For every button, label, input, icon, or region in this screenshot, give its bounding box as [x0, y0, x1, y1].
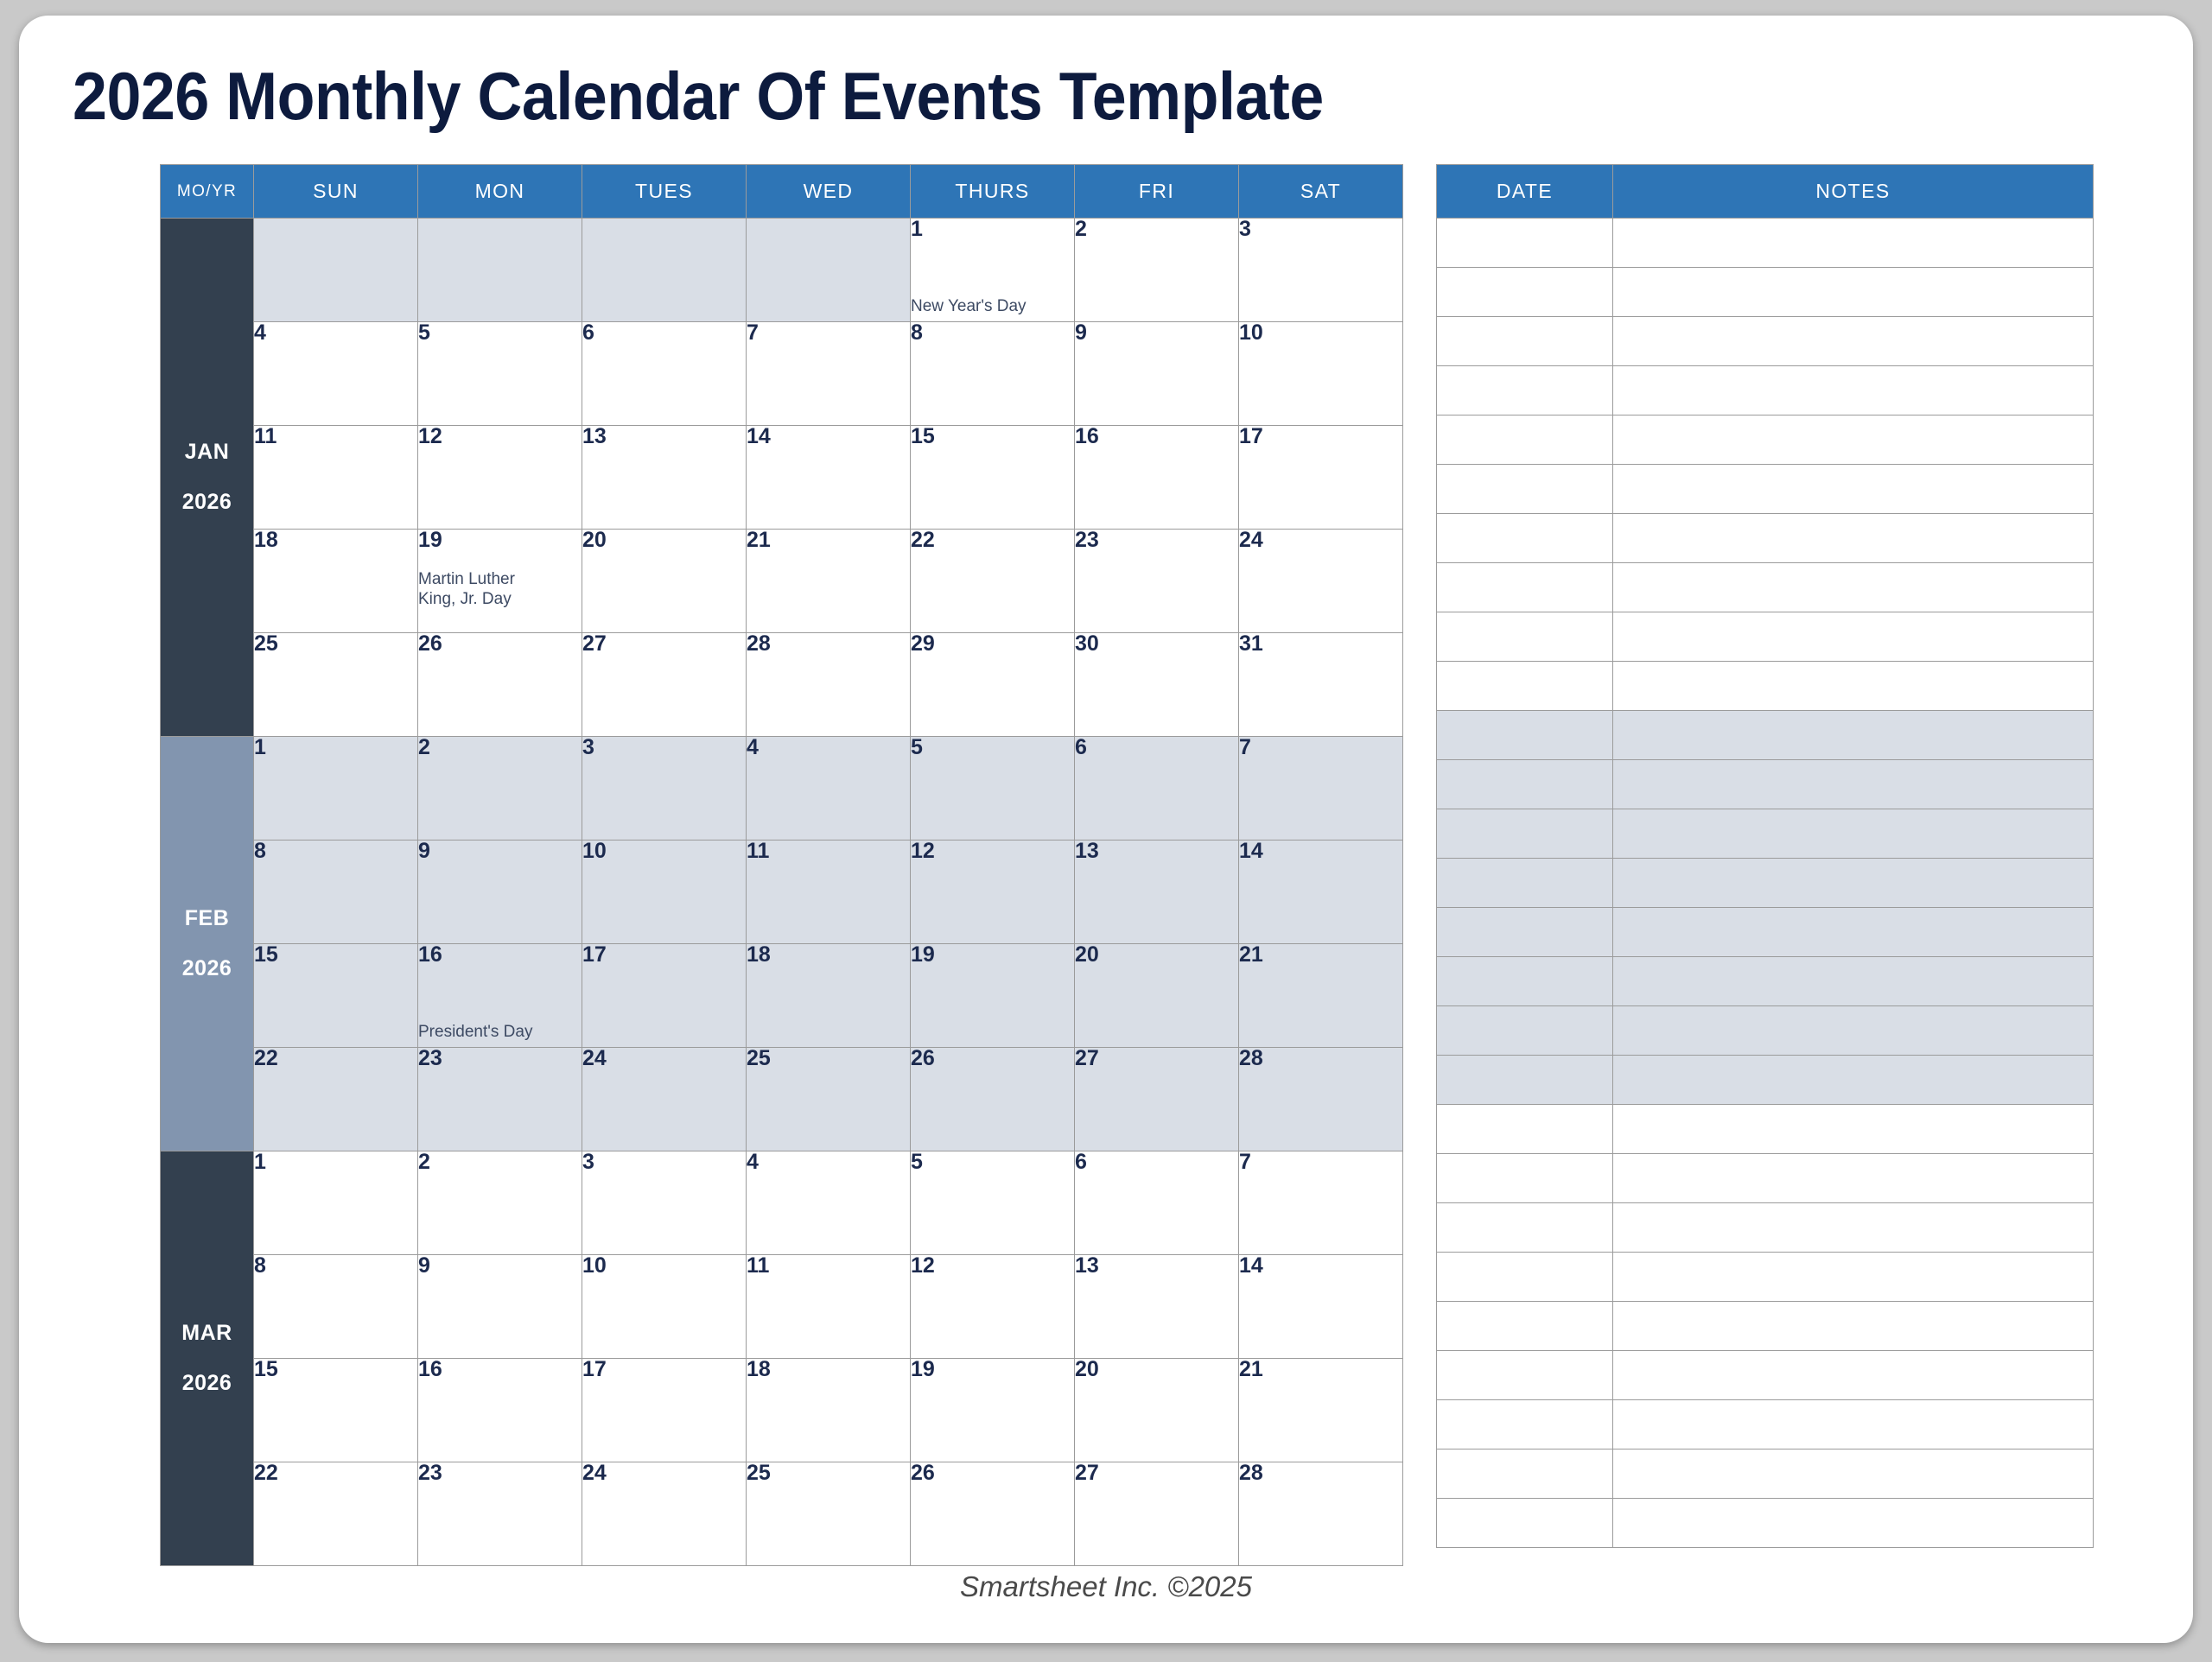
day-cell-content: 1 [254, 1151, 417, 1254]
calendar-day-cell[interactable]: 26 [418, 633, 582, 737]
day-number: 19 [911, 1359, 1074, 1380]
calendar-day-cell[interactable]: 26 [911, 1048, 1075, 1151]
notes-date-cell[interactable] [1437, 957, 1613, 1006]
calendar-day-cell[interactable]: 11 [747, 841, 911, 944]
day-number: 10 [582, 1255, 746, 1277]
calendar-day-cell[interactable]: 26 [911, 1462, 1075, 1566]
day-cell-content: 1New Year's Day [911, 219, 1074, 321]
calendar-day-cell[interactable]: 31 [1239, 633, 1403, 737]
notes-row [1437, 1351, 2094, 1400]
notes-row [1437, 1006, 2094, 1056]
column-header-wed: WED [747, 165, 911, 219]
notes-date-cell[interactable] [1437, 1006, 1613, 1056]
calendar-day-cell[interactable]: 17 [582, 1359, 747, 1462]
day-cell-content: 13 [1075, 841, 1238, 943]
calendar-cell-empty[interactable] [254, 219, 418, 322]
calendar-day-cell[interactable]: 11 [254, 426, 418, 530]
notes-date-cell[interactable] [1437, 1154, 1613, 1203]
notes-date-cell[interactable] [1437, 1105, 1613, 1154]
notes-date-cell[interactable] [1437, 760, 1613, 809]
notes-date-cell[interactable] [1437, 908, 1613, 957]
calendar-day-cell[interactable]: 7 [1239, 1151, 1403, 1255]
calendar-day-cell[interactable]: 5 [418, 322, 582, 426]
day-cell-content [418, 219, 582, 321]
calendar-day-cell[interactable]: 13 [1075, 1255, 1239, 1359]
day-cell-content: 6 [1075, 1151, 1238, 1254]
notes-row [1437, 1203, 2094, 1253]
day-cell-content: 14 [747, 426, 910, 529]
calendar-day-cell[interactable]: 8 [911, 322, 1075, 426]
notes-date-cell[interactable] [1437, 1203, 1613, 1253]
calendar-day-cell[interactable]: 2 [418, 1151, 582, 1255]
day-number: 24 [582, 1462, 746, 1484]
notes-date-cell[interactable] [1437, 1302, 1613, 1351]
calendar-day-cell[interactable]: 1 [254, 737, 418, 841]
calendar-day-cell[interactable]: 22 [911, 530, 1075, 633]
notes-note-cell[interactable] [1613, 317, 2094, 366]
day-cell-content: 16President's Day [418, 944, 582, 1047]
day-cell-content: 21 [747, 530, 910, 632]
calendar-week-row: 1516President's Day1718192021 [161, 944, 1403, 1048]
calendar-day-cell[interactable]: 27 [1075, 1462, 1239, 1566]
notes-note-cell[interactable] [1613, 1253, 2094, 1302]
calendar-day-cell[interactable]: 30 [1075, 633, 1239, 737]
day-cell-content: 21 [1239, 944, 1402, 1047]
notes-note-cell[interactable] [1613, 219, 2094, 268]
day-number: 7 [1239, 1151, 1402, 1173]
day-number: 24 [582, 1048, 746, 1069]
calendar-day-cell[interactable]: 16 [418, 1359, 582, 1462]
notes-date-cell[interactable] [1437, 1253, 1613, 1302]
day-cell-content: 27 [582, 633, 746, 736]
notes-date-cell[interactable] [1437, 612, 1613, 662]
calendar-day-cell[interactable]: 21 [1239, 944, 1403, 1048]
day-number: 25 [747, 1048, 910, 1069]
notes-date-cell[interactable] [1437, 711, 1613, 760]
calendar-day-cell[interactable]: 1 [254, 1151, 418, 1255]
notes-date-cell[interactable] [1437, 465, 1613, 514]
day-number: 5 [911, 1151, 1074, 1173]
calendar-day-cell[interactable]: 24 [1239, 530, 1403, 633]
day-number: 22 [911, 530, 1074, 551]
day-number: 6 [582, 322, 746, 344]
calendar-day-cell[interactable]: 19 [911, 944, 1075, 1048]
month-year: 2026 [161, 1359, 253, 1409]
calendar-day-cell[interactable]: 21 [1239, 1359, 1403, 1462]
day-cell-content: 27 [1075, 1462, 1238, 1565]
column-header-sat: SAT [1239, 165, 1403, 219]
calendar-day-cell[interactable]: 4 [254, 322, 418, 426]
notes-row [1437, 465, 2094, 514]
day-cell-content: 29 [911, 633, 1074, 736]
day-cell-content: 28 [1239, 1048, 1402, 1151]
notes-note-cell[interactable] [1613, 612, 2094, 662]
day-number: 5 [911, 737, 1074, 758]
notes-note-cell[interactable] [1613, 760, 2094, 809]
day-cell-content: 27 [1075, 1048, 1238, 1151]
calendar-day-cell[interactable]: 15 [911, 426, 1075, 530]
notes-note-cell[interactable] [1613, 711, 2094, 760]
day-cell-content: 5 [418, 322, 582, 425]
calendar-header-row: MO/YR SUN MON TUES WED THURS FRI SAT [161, 165, 1403, 219]
notes-date-cell[interactable] [1437, 317, 1613, 366]
calendar-day-cell[interactable]: 4 [747, 737, 911, 841]
calendar-day-cell[interactable]: 19 [911, 1359, 1075, 1462]
calendar-day-cell[interactable]: 17 [1239, 426, 1403, 530]
notes-note-cell[interactable] [1613, 1302, 2094, 1351]
notes-date-cell[interactable] [1437, 1400, 1613, 1449]
month-year: 2026 [161, 478, 253, 528]
day-number: 20 [582, 530, 746, 551]
day-number: 26 [911, 1462, 1074, 1484]
calendar-day-cell[interactable]: 25 [747, 1462, 911, 1566]
notes-note-cell[interactable] [1613, 809, 2094, 859]
day-cell-content: 10 [582, 841, 746, 943]
calendar-cell-empty[interactable] [747, 219, 911, 322]
calendar-day-cell[interactable]: 27 [582, 633, 747, 737]
calendar-day-cell[interactable]: 27 [1075, 1048, 1239, 1151]
day-cell-content: 15 [911, 426, 1074, 529]
month-label-mar: MAR2026 [161, 1151, 254, 1566]
calendar-day-cell[interactable]: 28 [747, 633, 911, 737]
day-cell-content: 16 [418, 1359, 582, 1462]
day-cell-content: 24 [582, 1462, 746, 1565]
notes-date-cell[interactable] [1437, 809, 1613, 859]
day-cell-content: 1 [254, 737, 417, 840]
notes-row [1437, 1449, 2094, 1499]
calendar-day-cell[interactable]: 28 [1239, 1048, 1403, 1151]
day-number: 27 [582, 633, 746, 655]
calendar-day-cell[interactable]: 3 [582, 1151, 747, 1255]
notes-date-cell[interactable] [1437, 219, 1613, 268]
day-cell-content: 18 [254, 530, 417, 632]
day-number: 2 [418, 737, 582, 758]
day-cell-content: 10 [582, 1255, 746, 1358]
notes-row [1437, 662, 2094, 711]
notes-row [1437, 809, 2094, 859]
day-cell-content [747, 219, 910, 321]
notes-note-cell[interactable] [1613, 366, 2094, 415]
calendar-day-cell[interactable]: 3 [582, 737, 747, 841]
day-number: 21 [747, 530, 910, 551]
day-cell-content: 19Martin LutherKing, Jr. Day [418, 530, 582, 632]
day-number: 9 [418, 841, 582, 862]
day-number: 1 [254, 1151, 417, 1173]
day-number: 13 [582, 426, 746, 447]
calendar-day-cell[interactable]: 10 [582, 1255, 747, 1359]
day-number: 29 [911, 633, 1074, 655]
notes-note-cell[interactable] [1613, 1154, 2094, 1203]
day-cell-content: 11 [747, 1255, 910, 1358]
day-cell-content: 26 [418, 633, 582, 736]
column-header-tues: TUES [582, 165, 747, 219]
calendar-day-cell[interactable]: 6 [582, 322, 747, 426]
day-number: 28 [1239, 1462, 1402, 1484]
day-number: 24 [1239, 530, 1402, 551]
day-number: 18 [747, 1359, 910, 1380]
day-cell-content: 8 [254, 1255, 417, 1358]
notes-note-cell[interactable] [1613, 1449, 2094, 1499]
day-number: 11 [254, 426, 417, 447]
day-cell-content: 7 [1239, 737, 1402, 840]
notes-date-cell[interactable] [1437, 415, 1613, 465]
day-number: 23 [418, 1462, 582, 1484]
calendar-day-cell[interactable]: 2 [1075, 219, 1239, 322]
notes-date-cell[interactable] [1437, 366, 1613, 415]
calendar-day-cell[interactable]: 13 [582, 426, 747, 530]
day-number: 6 [1075, 737, 1238, 758]
day-cell-content: 19 [911, 944, 1074, 1047]
calendar-day-cell[interactable]: 10 [582, 841, 747, 944]
calendar-week-row: 891011121314 [161, 1255, 1403, 1359]
day-cell-content: 19 [911, 1359, 1074, 1462]
notes-note-cell[interactable] [1613, 1006, 2094, 1056]
calendar-day-cell[interactable]: 11 [747, 1255, 911, 1359]
calendar-week-row: 1819Martin LutherKing, Jr. Day2021222324 [161, 530, 1403, 633]
notes-note-cell[interactable] [1613, 465, 2094, 514]
day-cell-content: 23 [418, 1462, 582, 1565]
calendar-day-cell[interactable]: 23 [418, 1462, 582, 1566]
day-number: 19 [418, 530, 582, 551]
day-cell-content [254, 219, 417, 321]
calendar-day-cell[interactable]: 3 [1239, 219, 1403, 322]
notes-date-cell[interactable] [1437, 1449, 1613, 1499]
day-cell-content: 8 [911, 322, 1074, 425]
calendar-day-cell[interactable]: 22 [254, 1462, 418, 1566]
notes-body [1437, 219, 2094, 1548]
day-cell-content: 13 [1075, 1255, 1238, 1358]
day-number: 28 [1239, 1048, 1402, 1069]
day-number: 31 [1239, 633, 1402, 655]
calendar-day-cell[interactable]: 12 [911, 841, 1075, 944]
calendar-day-cell[interactable]: 15 [254, 944, 418, 1048]
calendar-day-cell[interactable]: 14 [1239, 841, 1403, 944]
day-number: 16 [418, 1359, 582, 1380]
calendar-day-cell[interactable]: 23 [418, 1048, 582, 1151]
month-name: FEB [161, 894, 253, 944]
notes-row [1437, 415, 2094, 465]
day-number: 7 [747, 322, 910, 344]
day-cell-content: 15 [254, 944, 417, 1047]
notes-row [1437, 1302, 2094, 1351]
calendar-day-cell[interactable]: 25 [254, 633, 418, 737]
calendar-day-cell[interactable]: 5 [911, 737, 1075, 841]
day-number: 26 [911, 1048, 1074, 1069]
calendar-day-cell[interactable]: 20 [582, 530, 747, 633]
calendar-day-cell[interactable]: 28 [1239, 1462, 1403, 1566]
day-number: 3 [582, 1151, 746, 1173]
day-number: 19 [911, 944, 1074, 966]
calendar-week-row: 45678910 [161, 322, 1403, 426]
calendar-day-cell[interactable]: 16President's Day [418, 944, 582, 1048]
calendar-day-cell[interactable]: 4 [747, 1151, 911, 1255]
day-number: 23 [418, 1048, 582, 1069]
day-cell-content: 9 [418, 841, 582, 943]
column-header-mo-yr: MO/YR [161, 165, 254, 219]
day-cell-content [582, 219, 746, 321]
notes-panel: DATE NOTES [1436, 164, 2094, 1548]
notes-note-cell[interactable] [1613, 662, 2094, 711]
column-header-mon: MON [418, 165, 582, 219]
notes-note-cell[interactable] [1613, 1351, 2094, 1400]
day-cell-content: 16 [1075, 426, 1238, 529]
notes-date-cell[interactable] [1437, 859, 1613, 908]
calendar-day-cell[interactable]: 9 [418, 1255, 582, 1359]
calendar-day-cell[interactable]: 18 [747, 944, 911, 1048]
calendar-panel: MO/YR SUN MON TUES WED THURS FRI SAT JAN… [160, 164, 1403, 1566]
calendar-week-row: JAN20261New Year's Day23 [161, 219, 1403, 322]
day-cell-content: 7 [1239, 1151, 1402, 1254]
notes-date-cell[interactable] [1437, 1056, 1613, 1105]
day-number: 3 [582, 737, 746, 758]
calendar-day-cell[interactable]: 20 [1075, 1359, 1239, 1462]
notes-date-cell[interactable] [1437, 268, 1613, 317]
day-cell-content: 7 [747, 322, 910, 425]
day-cell-content: 11 [254, 426, 417, 529]
day-number: 2 [1075, 219, 1238, 240]
day-number: 12 [911, 1255, 1074, 1277]
calendar-day-cell[interactable]: 21 [747, 530, 911, 633]
notes-row [1437, 563, 2094, 612]
notes-note-cell[interactable] [1613, 1056, 2094, 1105]
notes-row [1437, 219, 2094, 268]
day-cell-content: 28 [747, 633, 910, 736]
notes-row [1437, 1400, 2094, 1449]
calendar-day-cell[interactable]: 13 [1075, 841, 1239, 944]
day-cell-content: 4 [254, 322, 417, 425]
day-cell-content: 2 [1075, 219, 1238, 321]
column-header-fri: FRI [1075, 165, 1239, 219]
calendar-day-cell[interactable]: 7 [747, 322, 911, 426]
notes-note-cell[interactable] [1613, 908, 2094, 957]
day-number: 22 [254, 1048, 417, 1069]
notes-date-cell[interactable] [1437, 563, 1613, 612]
notes-note-cell[interactable] [1613, 563, 2094, 612]
calendar-day-cell[interactable]: 24 [582, 1048, 747, 1151]
template-page: 2026 Monthly Calendar Of Events Template… [19, 16, 2193, 1643]
calendar-day-cell[interactable]: 17 [582, 944, 747, 1048]
calendar-day-cell[interactable]: 6 [1075, 737, 1239, 841]
notes-date-cell[interactable] [1437, 1499, 1613, 1548]
notes-date-cell[interactable] [1437, 514, 1613, 563]
notes-note-cell[interactable] [1613, 268, 2094, 317]
notes-note-cell[interactable] [1613, 514, 2094, 563]
calendar-body: JAN20261New Year's Day234567891011121314… [161, 219, 1403, 1566]
calendar-day-cell[interactable]: 10 [1239, 322, 1403, 426]
day-number: 2 [418, 1151, 582, 1173]
day-number: 17 [582, 944, 746, 966]
day-cell-content: 8 [254, 841, 417, 943]
notes-note-cell[interactable] [1613, 1400, 2094, 1449]
day-cell-content: 14 [1239, 1255, 1402, 1358]
calendar-day-cell[interactable]: 9 [1075, 322, 1239, 426]
day-number: 27 [1075, 1462, 1238, 1484]
day-cell-content: 6 [1075, 737, 1238, 840]
day-cell-content: 17 [582, 944, 746, 1047]
day-cell-content: 22 [254, 1048, 417, 1151]
column-header-date: DATE [1437, 165, 1613, 219]
notes-note-cell[interactable] [1613, 1203, 2094, 1253]
month-label-feb: FEB2026 [161, 737, 254, 1151]
day-number: 21 [1239, 944, 1402, 966]
day-cell-content: 18 [747, 944, 910, 1047]
notes-row [1437, 1056, 2094, 1105]
day-number: 6 [1075, 1151, 1238, 1173]
day-cell-content: 13 [582, 426, 746, 529]
calendar-day-cell[interactable]: 18 [747, 1359, 911, 1462]
calendar-day-cell[interactable]: 14 [747, 426, 911, 530]
notes-note-cell[interactable] [1613, 415, 2094, 465]
day-cell-content: 25 [747, 1462, 910, 1565]
calendar-day-cell[interactable]: 9 [418, 841, 582, 944]
calendar-day-cell[interactable]: 2 [418, 737, 582, 841]
notes-row [1437, 908, 2094, 957]
calendar-day-cell[interactable]: 22 [254, 1048, 418, 1151]
calendar-day-cell[interactable]: 7 [1239, 737, 1403, 841]
day-number: 12 [911, 841, 1074, 862]
day-number: 22 [254, 1462, 417, 1484]
notes-note-cell[interactable] [1613, 1105, 2094, 1154]
day-number: 1 [911, 219, 1074, 240]
day-number: 10 [582, 841, 746, 862]
notes-date-cell[interactable] [1437, 662, 1613, 711]
day-number: 8 [254, 841, 417, 862]
calendar-day-cell[interactable]: 29 [911, 633, 1075, 737]
day-cell-content: 12 [418, 426, 582, 529]
day-cell-content: 5 [911, 737, 1074, 840]
notes-note-cell[interactable] [1613, 957, 2094, 1006]
day-number: 28 [747, 633, 910, 655]
day-number: 12 [418, 426, 582, 447]
day-number: 11 [747, 1255, 910, 1277]
calendar-week-row: FEB20261234567 [161, 737, 1403, 841]
day-cell-content: 14 [1239, 841, 1402, 943]
calendar-day-cell[interactable]: 1New Year's Day [911, 219, 1075, 322]
calendar-day-cell[interactable]: 23 [1075, 530, 1239, 633]
calendar-cell-empty[interactable] [582, 219, 747, 322]
day-number: 14 [747, 426, 910, 447]
calendar-day-cell[interactable]: 18 [254, 530, 418, 633]
notes-note-cell[interactable] [1613, 859, 2094, 908]
calendar-day-cell[interactable]: 12 [911, 1255, 1075, 1359]
calendar-day-cell[interactable]: 5 [911, 1151, 1075, 1255]
day-cell-content: 22 [911, 530, 1074, 632]
calendar-cell-empty[interactable] [418, 219, 582, 322]
calendar-day-cell[interactable]: 8 [254, 1255, 418, 1359]
day-number: 30 [1075, 633, 1238, 655]
notes-note-cell[interactable] [1613, 1499, 2094, 1548]
notes-row [1437, 711, 2094, 760]
day-number: 21 [1239, 1359, 1402, 1380]
day-number: 11 [747, 841, 910, 862]
notes-date-cell[interactable] [1437, 1351, 1613, 1400]
calendar-day-cell[interactable]: 25 [747, 1048, 911, 1151]
calendar-day-cell[interactable]: 14 [1239, 1255, 1403, 1359]
calendar-day-cell[interactable]: 6 [1075, 1151, 1239, 1255]
calendar-day-cell[interactable]: 20 [1075, 944, 1239, 1048]
calendar-day-cell[interactable]: 15 [254, 1359, 418, 1462]
calendar-week-row: 22232425262728 [161, 1462, 1403, 1566]
calendar-day-cell[interactable]: 12 [418, 426, 582, 530]
month-year: 2026 [161, 944, 253, 994]
calendar-day-cell[interactable]: 8 [254, 841, 418, 944]
notes-row [1437, 1499, 2094, 1548]
calendar-day-cell[interactable]: 19Martin LutherKing, Jr. Day [418, 530, 582, 633]
calendar-day-cell[interactable]: 16 [1075, 426, 1239, 530]
day-number: 17 [582, 1359, 746, 1380]
day-cell-content: 4 [747, 737, 910, 840]
calendar-day-cell[interactable]: 24 [582, 1462, 747, 1566]
